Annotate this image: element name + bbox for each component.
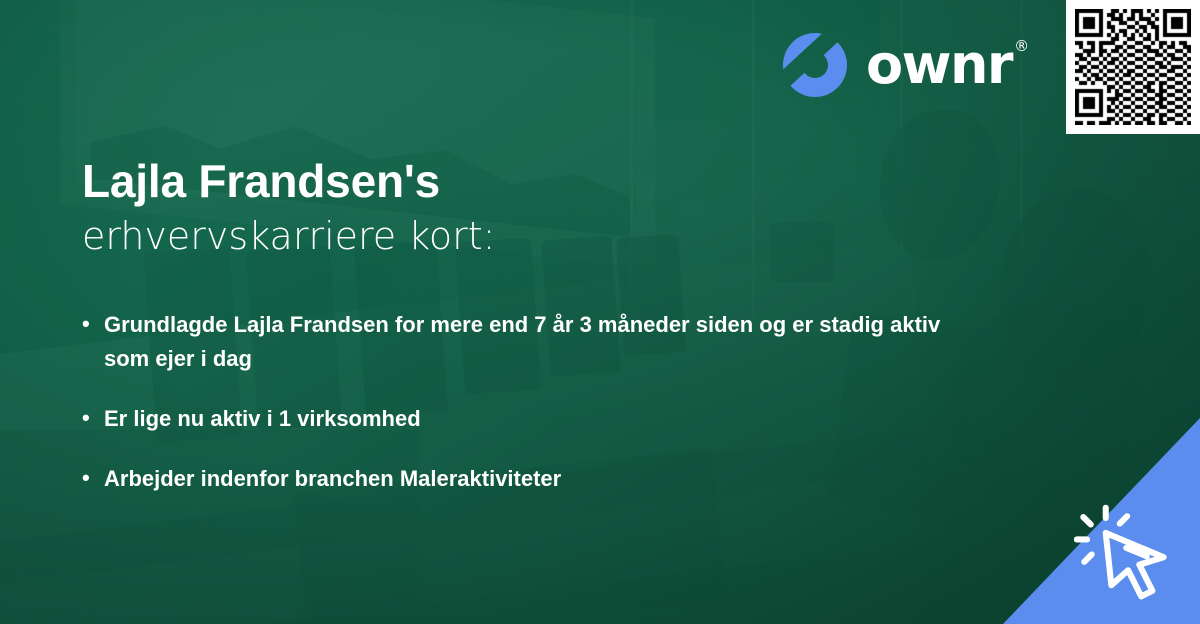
qr-code[interactable] bbox=[1075, 9, 1191, 125]
ownr-wordmark-text: ownr bbox=[866, 33, 1012, 96]
page-title: Lajla Frandsen's erhvervskarriere kort: bbox=[82, 155, 902, 260]
registered-trademark-icon: ® bbox=[1014, 39, 1029, 54]
ownr-logo[interactable]: ownr® bbox=[782, 32, 1012, 98]
click-cursor-icon bbox=[1074, 490, 1186, 602]
headline-subtitle: erhvervskarriere kort: bbox=[82, 214, 902, 260]
headline-name: Lajla Frandsen's bbox=[82, 155, 902, 208]
ownr-logo-mark bbox=[782, 32, 848, 98]
list-item: Grundlagde Lajla Frandsen for mere end 7… bbox=[82, 308, 962, 376]
ownr-wordmark: ownr® bbox=[866, 38, 1012, 92]
ownr-business-card: ownr® Lajla Frandsen's erhvervskarriere … bbox=[0, 0, 1200, 624]
list-item: Arbejder indenfor branchen Maleraktivite… bbox=[82, 462, 962, 496]
fact-list: Grundlagde Lajla Frandsen for mere end 7… bbox=[82, 308, 962, 496]
qr-code-panel[interactable] bbox=[1066, 0, 1200, 134]
list-item: Er lige nu aktiv i 1 virksomhed bbox=[82, 402, 962, 436]
